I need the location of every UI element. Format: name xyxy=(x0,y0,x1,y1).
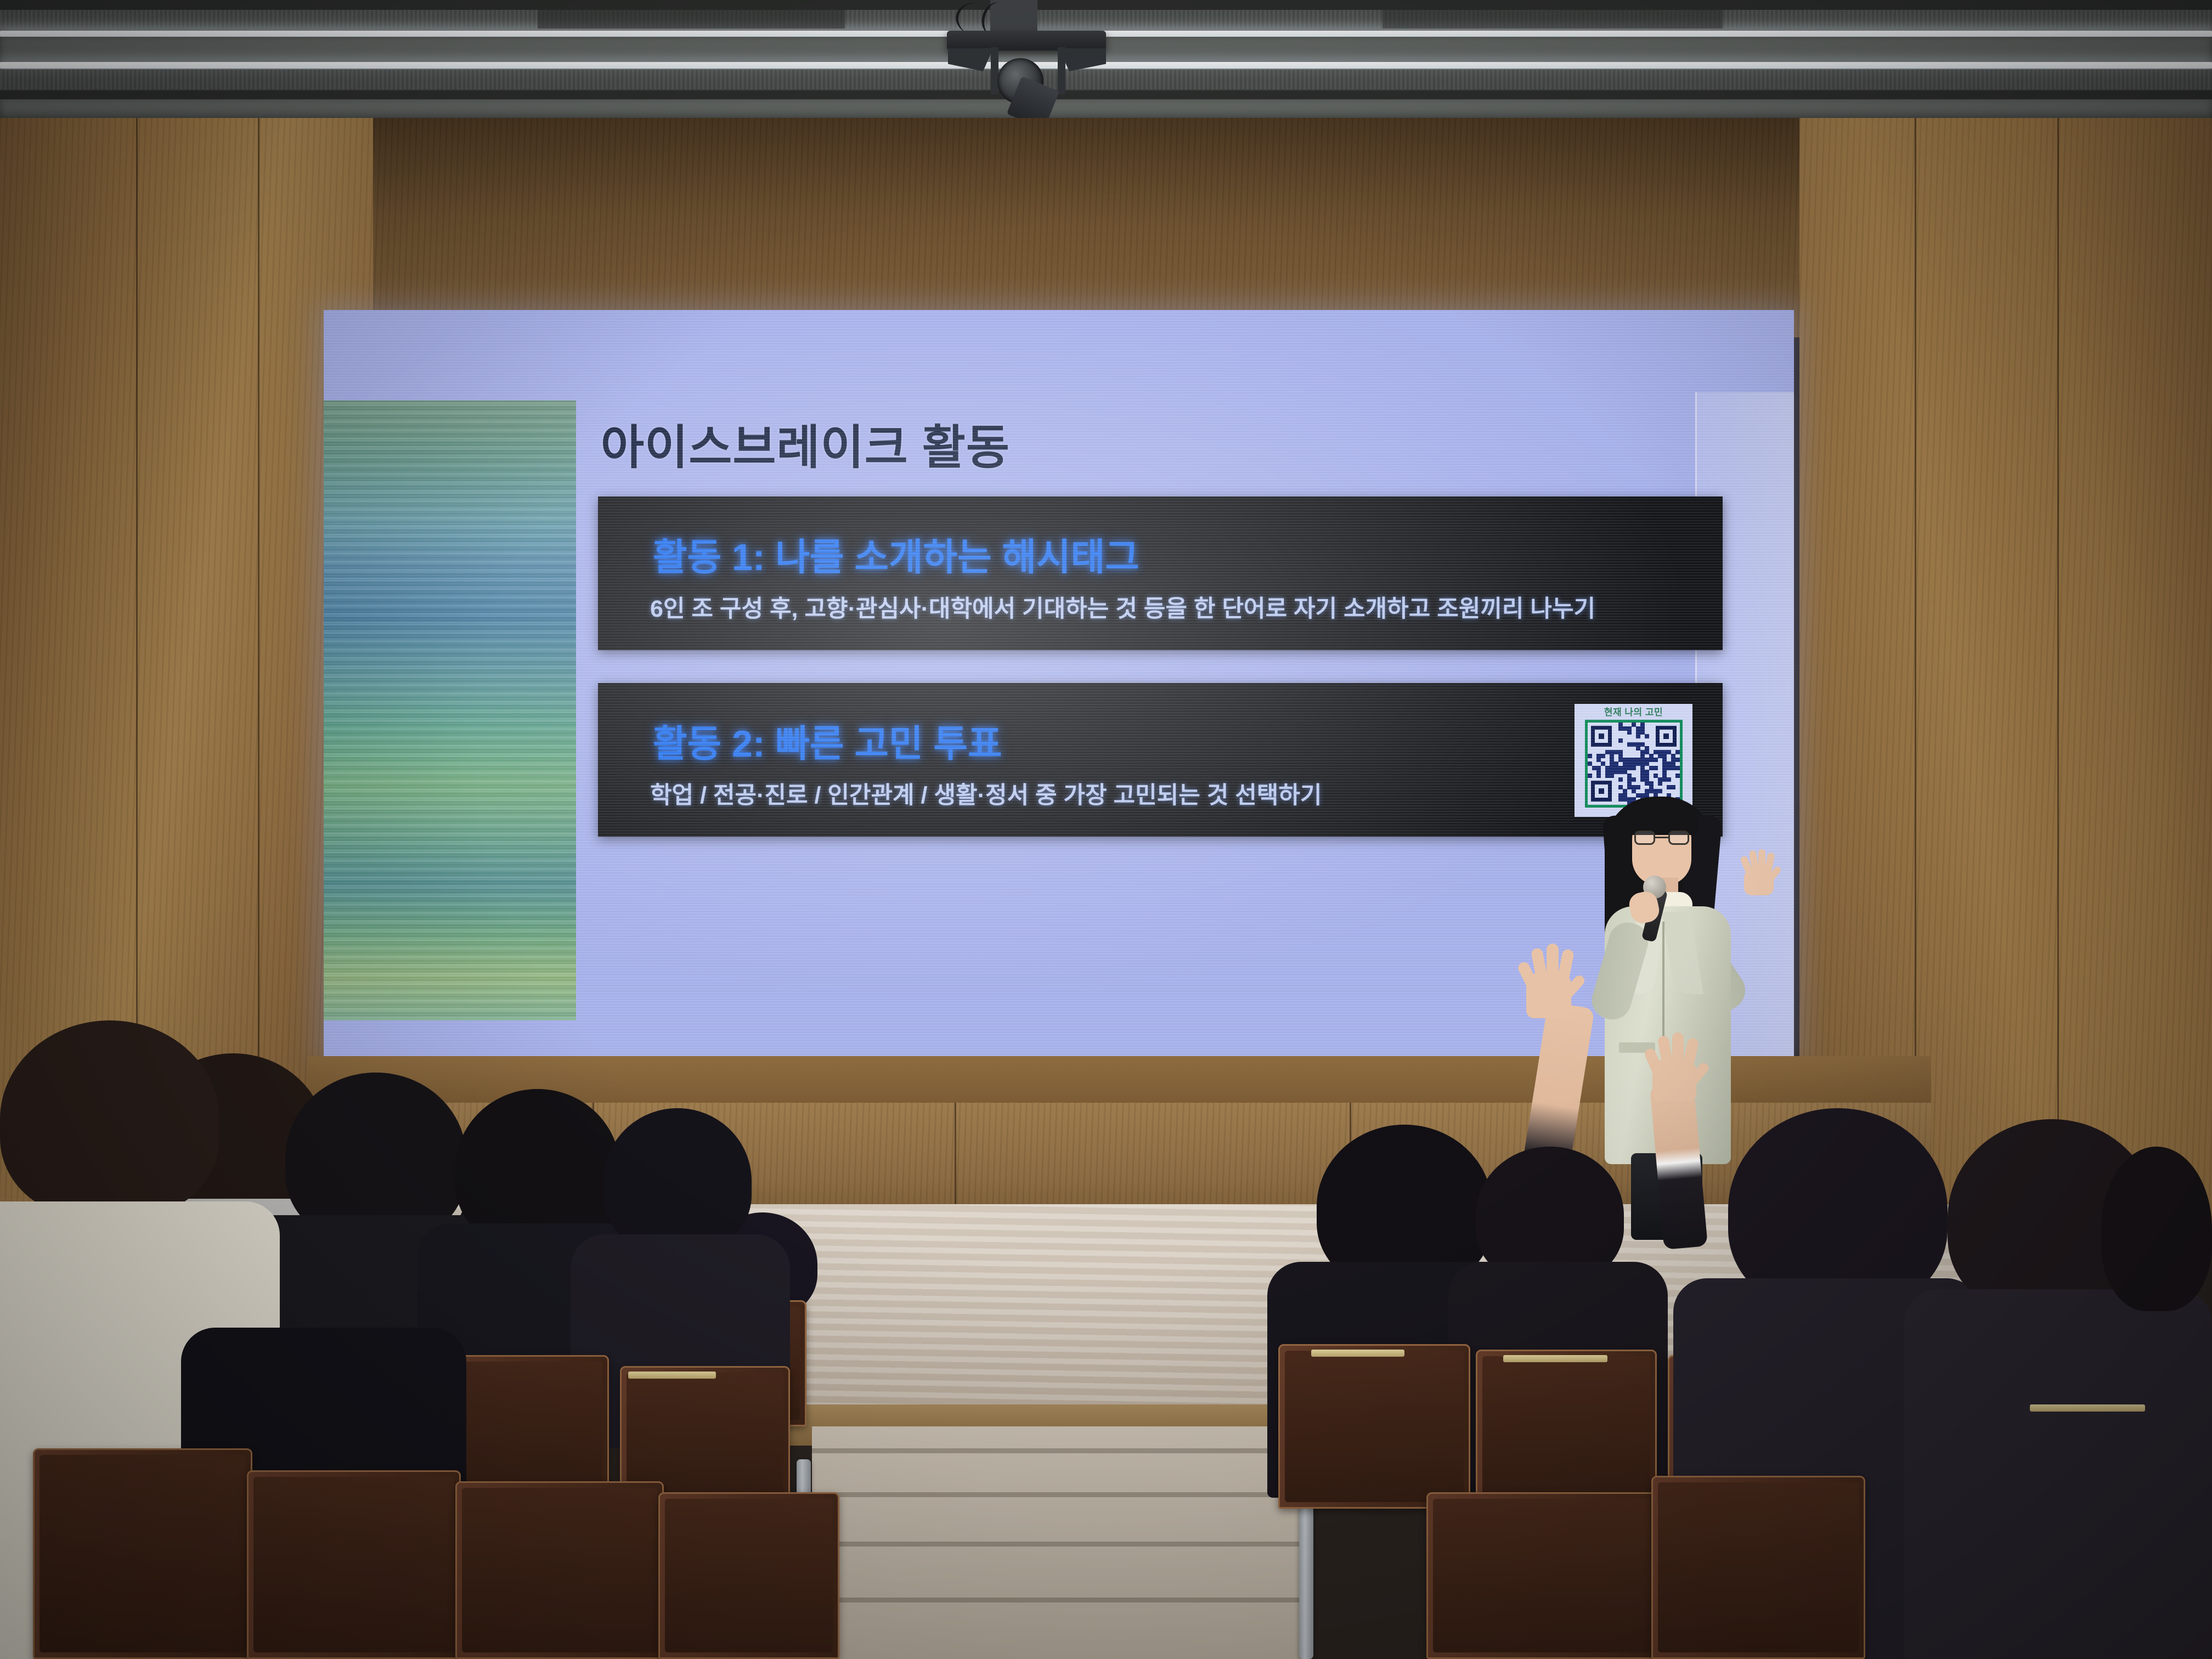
audience-head xyxy=(2101,1147,2212,1311)
audience-head xyxy=(0,1020,219,1218)
seat-number-plate xyxy=(1311,1350,1404,1357)
activity-1-heading: 활동 1: 나를 소개하는 해시태그 xyxy=(653,527,1139,581)
auditorium-seat[interactable] xyxy=(1278,1344,1470,1509)
activity-2-heading: 활동 2: 빠른 고민 투표 xyxy=(653,713,1002,768)
aisle-steps xyxy=(812,1426,1306,1659)
activity-1-box: 활동 1: 나를 소개하는 해시태그 6인 조 구성 후, 고향·관심사·대학에… xyxy=(598,496,1723,650)
activity-1-body: 6인 조 구성 후, 고향·관심사·대학에서 기대하는 것 등을 한 단어로 자… xyxy=(650,590,1595,624)
auditorium-seat[interactable] xyxy=(1426,1492,1657,1659)
slide-title: 아이스브레이크 활동 xyxy=(601,409,1010,477)
glasses-icon xyxy=(1634,831,1689,845)
auditorium-seat[interactable] xyxy=(658,1492,839,1659)
auditorium-scene: 아이스브레이크 활동 활동 1: 나를 소개하는 해시태그 6인 조 구성 후,… xyxy=(0,0,2212,1659)
seat-number-plate xyxy=(2030,1404,2145,1412)
auditorium-seat[interactable] xyxy=(455,1481,664,1659)
seat-number-plate xyxy=(628,1372,716,1379)
qr-caption: 현재 나의 고민 xyxy=(1578,707,1689,718)
auditorium-seat[interactable] xyxy=(1476,1350,1657,1509)
auditorium-seat[interactable] xyxy=(247,1470,461,1659)
auditorium-seat[interactable] xyxy=(33,1448,252,1659)
audience-head xyxy=(603,1108,752,1254)
back-wall-upper xyxy=(307,118,1931,337)
audience-shoulders xyxy=(1904,1289,2212,1659)
activity-2-body: 학업 / 전공·진로 / 인간관계 / 생활·정서 중 가장 고민되는 것 선택… xyxy=(650,776,1322,810)
auditorium-seat[interactable] xyxy=(1651,1476,1865,1659)
raised-hand xyxy=(1517,943,1583,1019)
ceiling xyxy=(0,0,2212,118)
presenter-raised-hand xyxy=(1740,849,1779,896)
raised-hand xyxy=(1645,1031,1709,1103)
activity-2-box: 활동 2: 빠른 고민 투표 학업 / 전공·진로 / 인간관계 / 생활·정서… xyxy=(598,683,1723,837)
seat-number-plate xyxy=(1503,1355,1607,1362)
slide-art-band xyxy=(324,400,576,1020)
